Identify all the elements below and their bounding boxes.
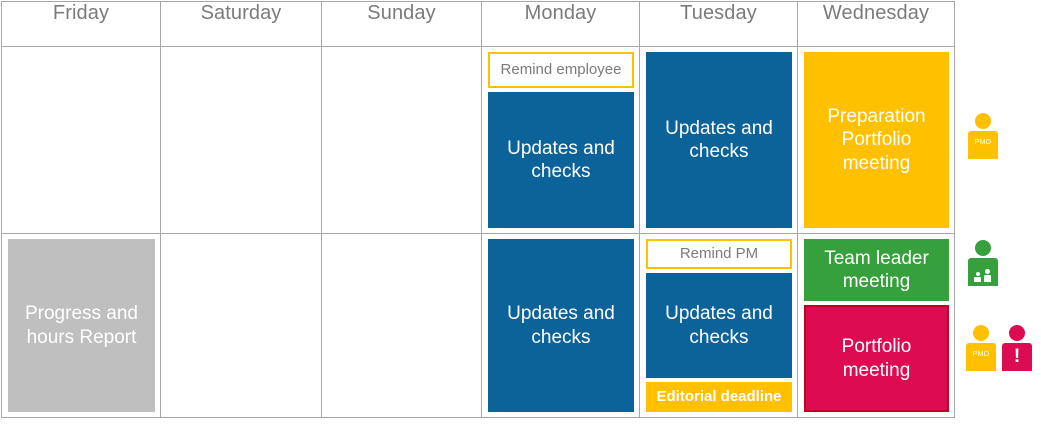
- day-cell-sunday-row2[interactable]: [322, 234, 482, 418]
- day-cell-sunday-row1[interactable]: [322, 47, 482, 234]
- event-team-leader-meeting[interactable]: Team leader meeting: [804, 239, 949, 301]
- cell-content: [161, 234, 321, 417]
- calendar-row-1: Remind employee Updates and checks Updat…: [2, 47, 955, 234]
- day-cell-wednesday-row2[interactable]: Team leader meeting Portfolio meeting: [798, 234, 955, 418]
- person-risk-icon[interactable]: !: [1002, 325, 1032, 371]
- calendar-row-2: Progress and hours Report Updates and ch…: [2, 234, 955, 418]
- team-member-body: [984, 275, 991, 282]
- column-header-saturday[interactable]: Saturday: [161, 2, 322, 47]
- column-header-friday[interactable]: Friday: [2, 2, 161, 47]
- column-header-wednesday[interactable]: Wednesday: [798, 2, 955, 47]
- day-cell-monday-row1[interactable]: Remind employee Updates and checks: [482, 47, 640, 234]
- actor-group-pmo-and-risk: PMO !: [966, 325, 1032, 371]
- cell-content: Updates and checks: [482, 234, 639, 417]
- cell-content: Remind employee Updates and checks: [482, 47, 639, 233]
- column-header-monday[interactable]: Monday: [482, 2, 640, 47]
- exclamation-icon: !: [1002, 347, 1032, 366]
- person-head: [975, 113, 991, 129]
- team-member-large-icon: [984, 269, 991, 282]
- cell-content: Remind PM Updates and checks Editorial d…: [640, 234, 797, 417]
- actor-group-pmo-preparation: PMO: [968, 113, 998, 159]
- event-remind-pm[interactable]: Remind PM: [646, 239, 792, 269]
- person-team-icon[interactable]: [968, 240, 998, 286]
- column-header-tuesday[interactable]: Tuesday: [640, 2, 798, 47]
- column-header-sunday[interactable]: Sunday: [322, 2, 482, 47]
- event-preparation-portfolio-meeting[interactable]: Preparation Portfolio meeting: [804, 52, 949, 228]
- person-head: [1009, 325, 1025, 341]
- day-cell-wednesday-row1[interactable]: Preparation Portfolio meeting: [798, 47, 955, 234]
- event-portfolio-meeting[interactable]: Portfolio meeting: [804, 305, 949, 412]
- actor-legend-column: PMO: [958, 0, 1041, 424]
- cell-content: [322, 234, 481, 417]
- day-cell-friday-row2[interactable]: Progress and hours Report: [2, 234, 161, 418]
- event-updates-and-checks[interactable]: Updates and checks: [488, 92, 634, 228]
- team-member-body: [974, 277, 981, 282]
- day-cell-monday-row2[interactable]: Updates and checks: [482, 234, 640, 418]
- calendar-header-row: Friday Saturday Sunday Monday Tuesday We…: [2, 2, 955, 47]
- event-remind-employee[interactable]: Remind employee: [488, 52, 634, 88]
- day-cell-friday-row1[interactable]: [2, 47, 161, 234]
- day-cell-saturday-row2[interactable]: [161, 234, 322, 418]
- cell-content: Preparation Portfolio meeting: [798, 47, 954, 233]
- actor-group-team-leader: [968, 240, 998, 286]
- person-role-badge: PMO: [968, 139, 998, 146]
- event-updates-and-checks[interactable]: Updates and checks: [488, 239, 634, 412]
- person-head: [975, 240, 991, 256]
- cell-content: Team leader meeting Portfolio meeting: [798, 234, 954, 417]
- cell-content: Updates and checks: [640, 47, 797, 233]
- team-member-head: [985, 269, 990, 274]
- event-updates-and-checks[interactable]: Updates and checks: [646, 52, 792, 228]
- team-members-icon: [974, 270, 994, 282]
- weekly-schedule: Friday Saturday Sunday Monday Tuesday We…: [0, 0, 1041, 424]
- team-member-small-icon: [974, 272, 981, 282]
- day-cell-tuesday-row2[interactable]: Remind PM Updates and checks Editorial d…: [640, 234, 798, 418]
- calendar-grid: Friday Saturday Sunday Monday Tuesday We…: [1, 1, 955, 418]
- team-member-head: [976, 272, 980, 276]
- day-cell-saturday-row1[interactable]: [161, 47, 322, 234]
- person-head: [973, 325, 989, 341]
- event-editorial-deadline[interactable]: Editorial deadline: [646, 382, 792, 412]
- event-progress-and-hours-report[interactable]: Progress and hours Report: [8, 239, 155, 412]
- day-cell-tuesday-row1[interactable]: Updates and checks: [640, 47, 798, 234]
- cell-content: [2, 47, 160, 233]
- event-updates-and-checks[interactable]: Updates and checks: [646, 273, 792, 378]
- person-pmo-icon[interactable]: PMO: [968, 113, 998, 159]
- person-role-badge: PMO: [966, 351, 996, 358]
- cell-content: Progress and hours Report: [2, 234, 160, 417]
- cell-content: [322, 47, 481, 233]
- cell-content: [161, 47, 321, 233]
- person-pmo-icon[interactable]: PMO: [966, 325, 996, 371]
